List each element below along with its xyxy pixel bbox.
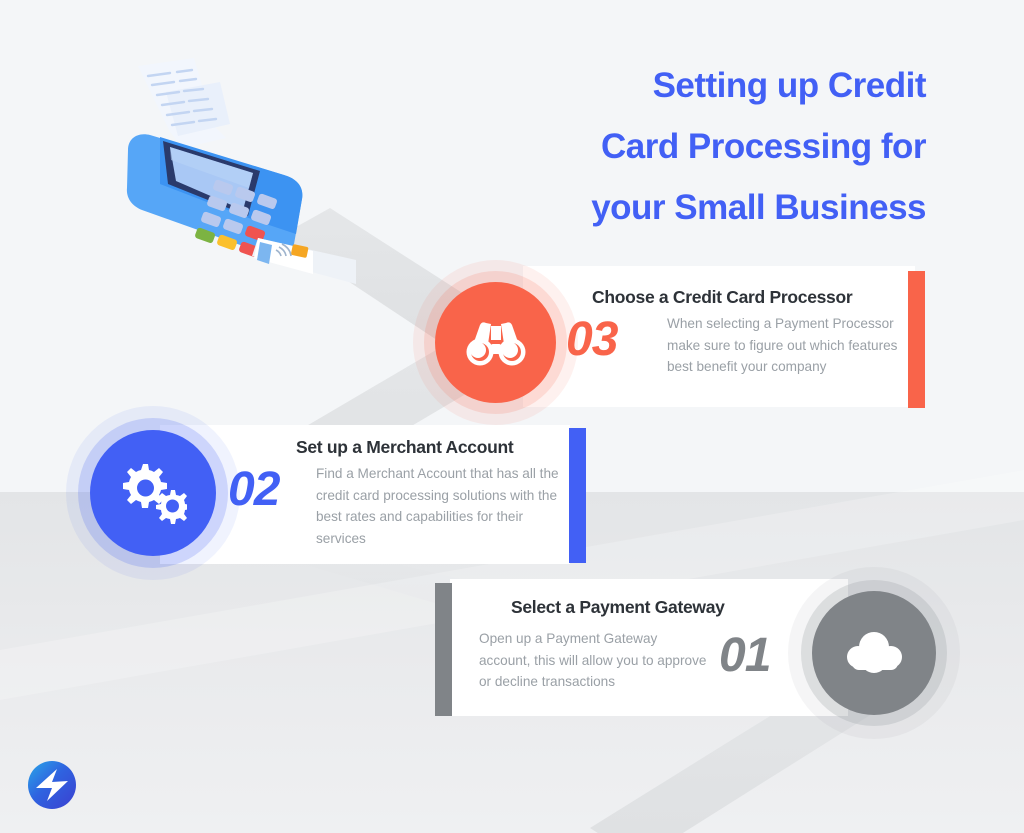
step-accent-bar-03 bbox=[908, 271, 925, 408]
step-accent-bar-01 bbox=[435, 583, 452, 716]
credit-card bbox=[252, 238, 356, 284]
step-heading-01: Select a Payment Gateway bbox=[511, 597, 725, 618]
step-accent-bar-02 bbox=[569, 428, 586, 563]
cloud-icon bbox=[838, 629, 910, 677]
step-icon-medallion-01[interactable] bbox=[812, 591, 936, 715]
step-body-01: Open up a Payment Gateway account, this … bbox=[479, 628, 709, 693]
step-heading-03: Choose a Credit Card Processor bbox=[592, 287, 852, 308]
icon-core-02 bbox=[90, 430, 216, 556]
icon-core-01 bbox=[812, 591, 936, 715]
receipt-paper bbox=[138, 58, 230, 148]
title-line-2: Card Processing for bbox=[486, 116, 926, 177]
lightning-bolt-logo[interactable] bbox=[27, 760, 77, 810]
binoculars-icon bbox=[465, 319, 527, 367]
step-heading-02: Set up a Merchant Account bbox=[296, 437, 513, 458]
step-icon-medallion-02[interactable] bbox=[90, 430, 216, 556]
page-title: Setting up Credit Card Processing for yo… bbox=[486, 55, 926, 238]
step-body-03: When selecting a Payment Processor make … bbox=[667, 313, 899, 378]
step-icon-medallion-03[interactable] bbox=[435, 282, 556, 403]
step-body-02: Find a Merchant Account that has all the… bbox=[316, 463, 566, 549]
pos-card-terminal-illustration bbox=[108, 52, 358, 287]
title-line-3: your Small Business bbox=[486, 177, 926, 238]
title-line-1: Setting up Credit bbox=[486, 55, 926, 116]
icon-core-03 bbox=[435, 282, 556, 403]
terminal-body bbox=[127, 134, 302, 258]
infographic-canvas: Setting up Credit Card Processing for yo… bbox=[0, 0, 1024, 833]
gears-icon bbox=[119, 462, 187, 524]
step-number-01: 01 bbox=[719, 628, 770, 683]
